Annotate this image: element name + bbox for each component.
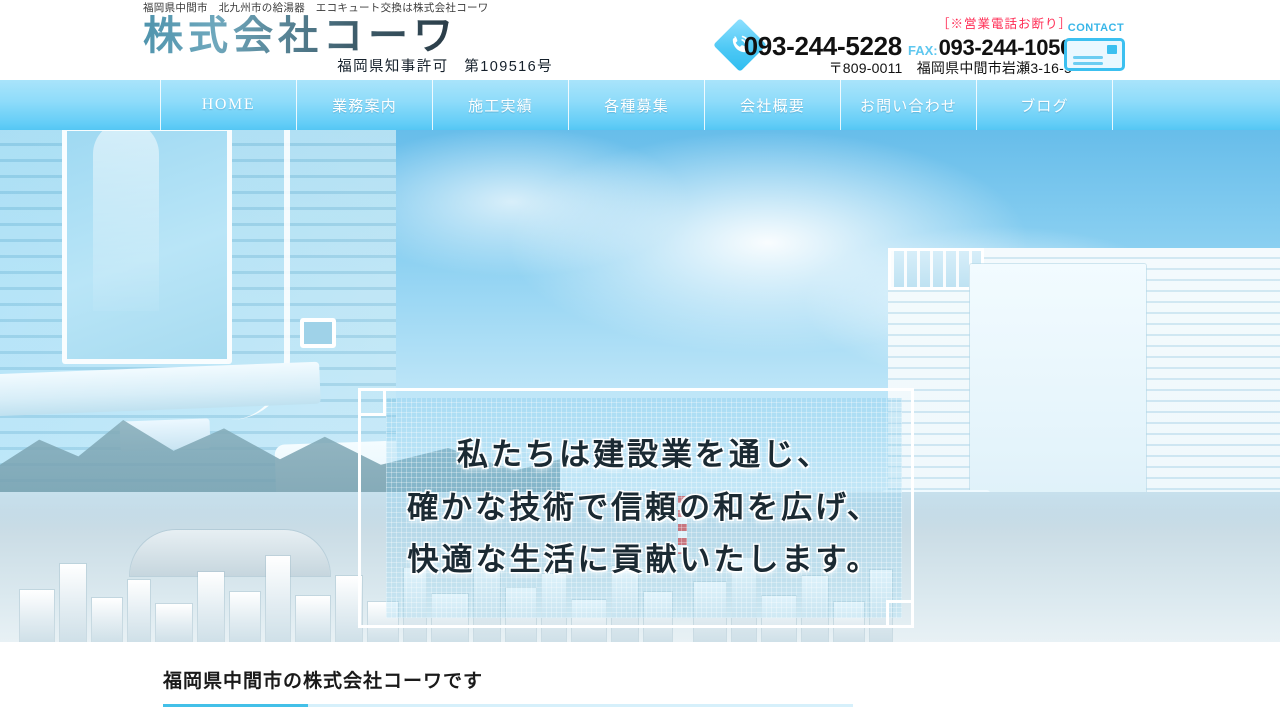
frame-corner-square-top-left	[358, 388, 386, 416]
nav-item-services[interactable]: 業務案内	[296, 80, 432, 130]
postal-address: 〒809-0011 福岡県中間市岩瀬3-16-5	[762, 60, 1072, 77]
main-content-top: 福岡県中間市の株式会社コーワです CONTACT	[0, 642, 1280, 720]
nav-item-blog[interactable]: ブログ	[976, 80, 1112, 130]
frame-right-line	[911, 388, 914, 606]
company-logo-text: 株式会社コーワ	[143, 15, 563, 57]
frame-corner-square-bottom-right	[886, 600, 914, 628]
city-building	[92, 598, 122, 642]
license-number: 福岡県知事許可 第109516号	[143, 55, 563, 76]
heading-underline	[163, 704, 853, 707]
nav-item-home[interactable]: HOME	[160, 80, 296, 130]
bathroom-mirror	[62, 130, 232, 364]
envelope-icon	[1064, 38, 1125, 71]
city-building	[60, 564, 86, 642]
city-building	[266, 556, 290, 642]
fax-number: 093-244-1050	[939, 36, 1072, 59]
header-contact-button[interactable]: CONTACT	[1064, 23, 1128, 71]
nav-item-company[interactable]: 会社概要	[704, 80, 840, 130]
city-building	[198, 572, 224, 642]
sales-call-warning: ［※営業電話お断り］	[762, 18, 1072, 32]
city-building	[230, 592, 260, 642]
city-building	[128, 580, 150, 642]
hero-banner: 私たちは建設業を通じ、 確かな技術で信頼の和を広げ、 快適な生活に貢献いたします…	[0, 130, 1280, 642]
frame-top-line	[380, 388, 914, 391]
nav-item-contact[interactable]: お問い合わせ	[840, 80, 976, 130]
site-header: 福岡県中間市 北九州市の給湯器 エコキュート交換は株式会社コーワ 株式会社コーワ…	[0, 0, 1280, 80]
nav-item-recruit[interactable]: 各種募集	[568, 80, 704, 130]
page-title: 福岡県中間市の株式会社コーワです	[163, 670, 853, 695]
envelope-line	[1073, 56, 1103, 59]
envelope-stamp	[1107, 45, 1117, 54]
city-building	[156, 604, 192, 642]
frame-bottom-line	[358, 625, 892, 628]
envelope-line	[1073, 62, 1103, 65]
logo-block[interactable]: 福岡県中間市 北九州市の給湯器 エコキュート交換は株式会社コーワ 株式会社コーワ…	[143, 2, 563, 76]
bathroom-control-panel	[300, 318, 336, 348]
section-heading: 福岡県中間市の株式会社コーワです	[163, 670, 853, 707]
telephone-row[interactable]: 093-244-5228 FAX: 093-244-1050	[762, 33, 1072, 60]
nav-item-works[interactable]: 施工実績	[432, 80, 568, 130]
main-navigation: HOME 業務案内 施工実績 各種募集 会社概要 お問い合わせ ブログ	[0, 80, 1280, 130]
city-building	[20, 590, 54, 642]
nav-left-spacer	[0, 80, 160, 130]
header-contact-info: ［※営業電話お断り］ 093-244-5228 FAX: 093-244-105…	[762, 18, 1072, 77]
nav-right-spacer	[1112, 80, 1280, 130]
stadium-dome	[130, 530, 330, 576]
city-building	[296, 596, 330, 642]
telephone-number: 093-244-5228	[744, 33, 902, 60]
frame-left-line	[358, 410, 361, 628]
hero-decorative-frame	[358, 388, 914, 628]
fax-label: FAX:	[908, 44, 938, 58]
contact-button-label: CONTACT	[1064, 23, 1128, 34]
